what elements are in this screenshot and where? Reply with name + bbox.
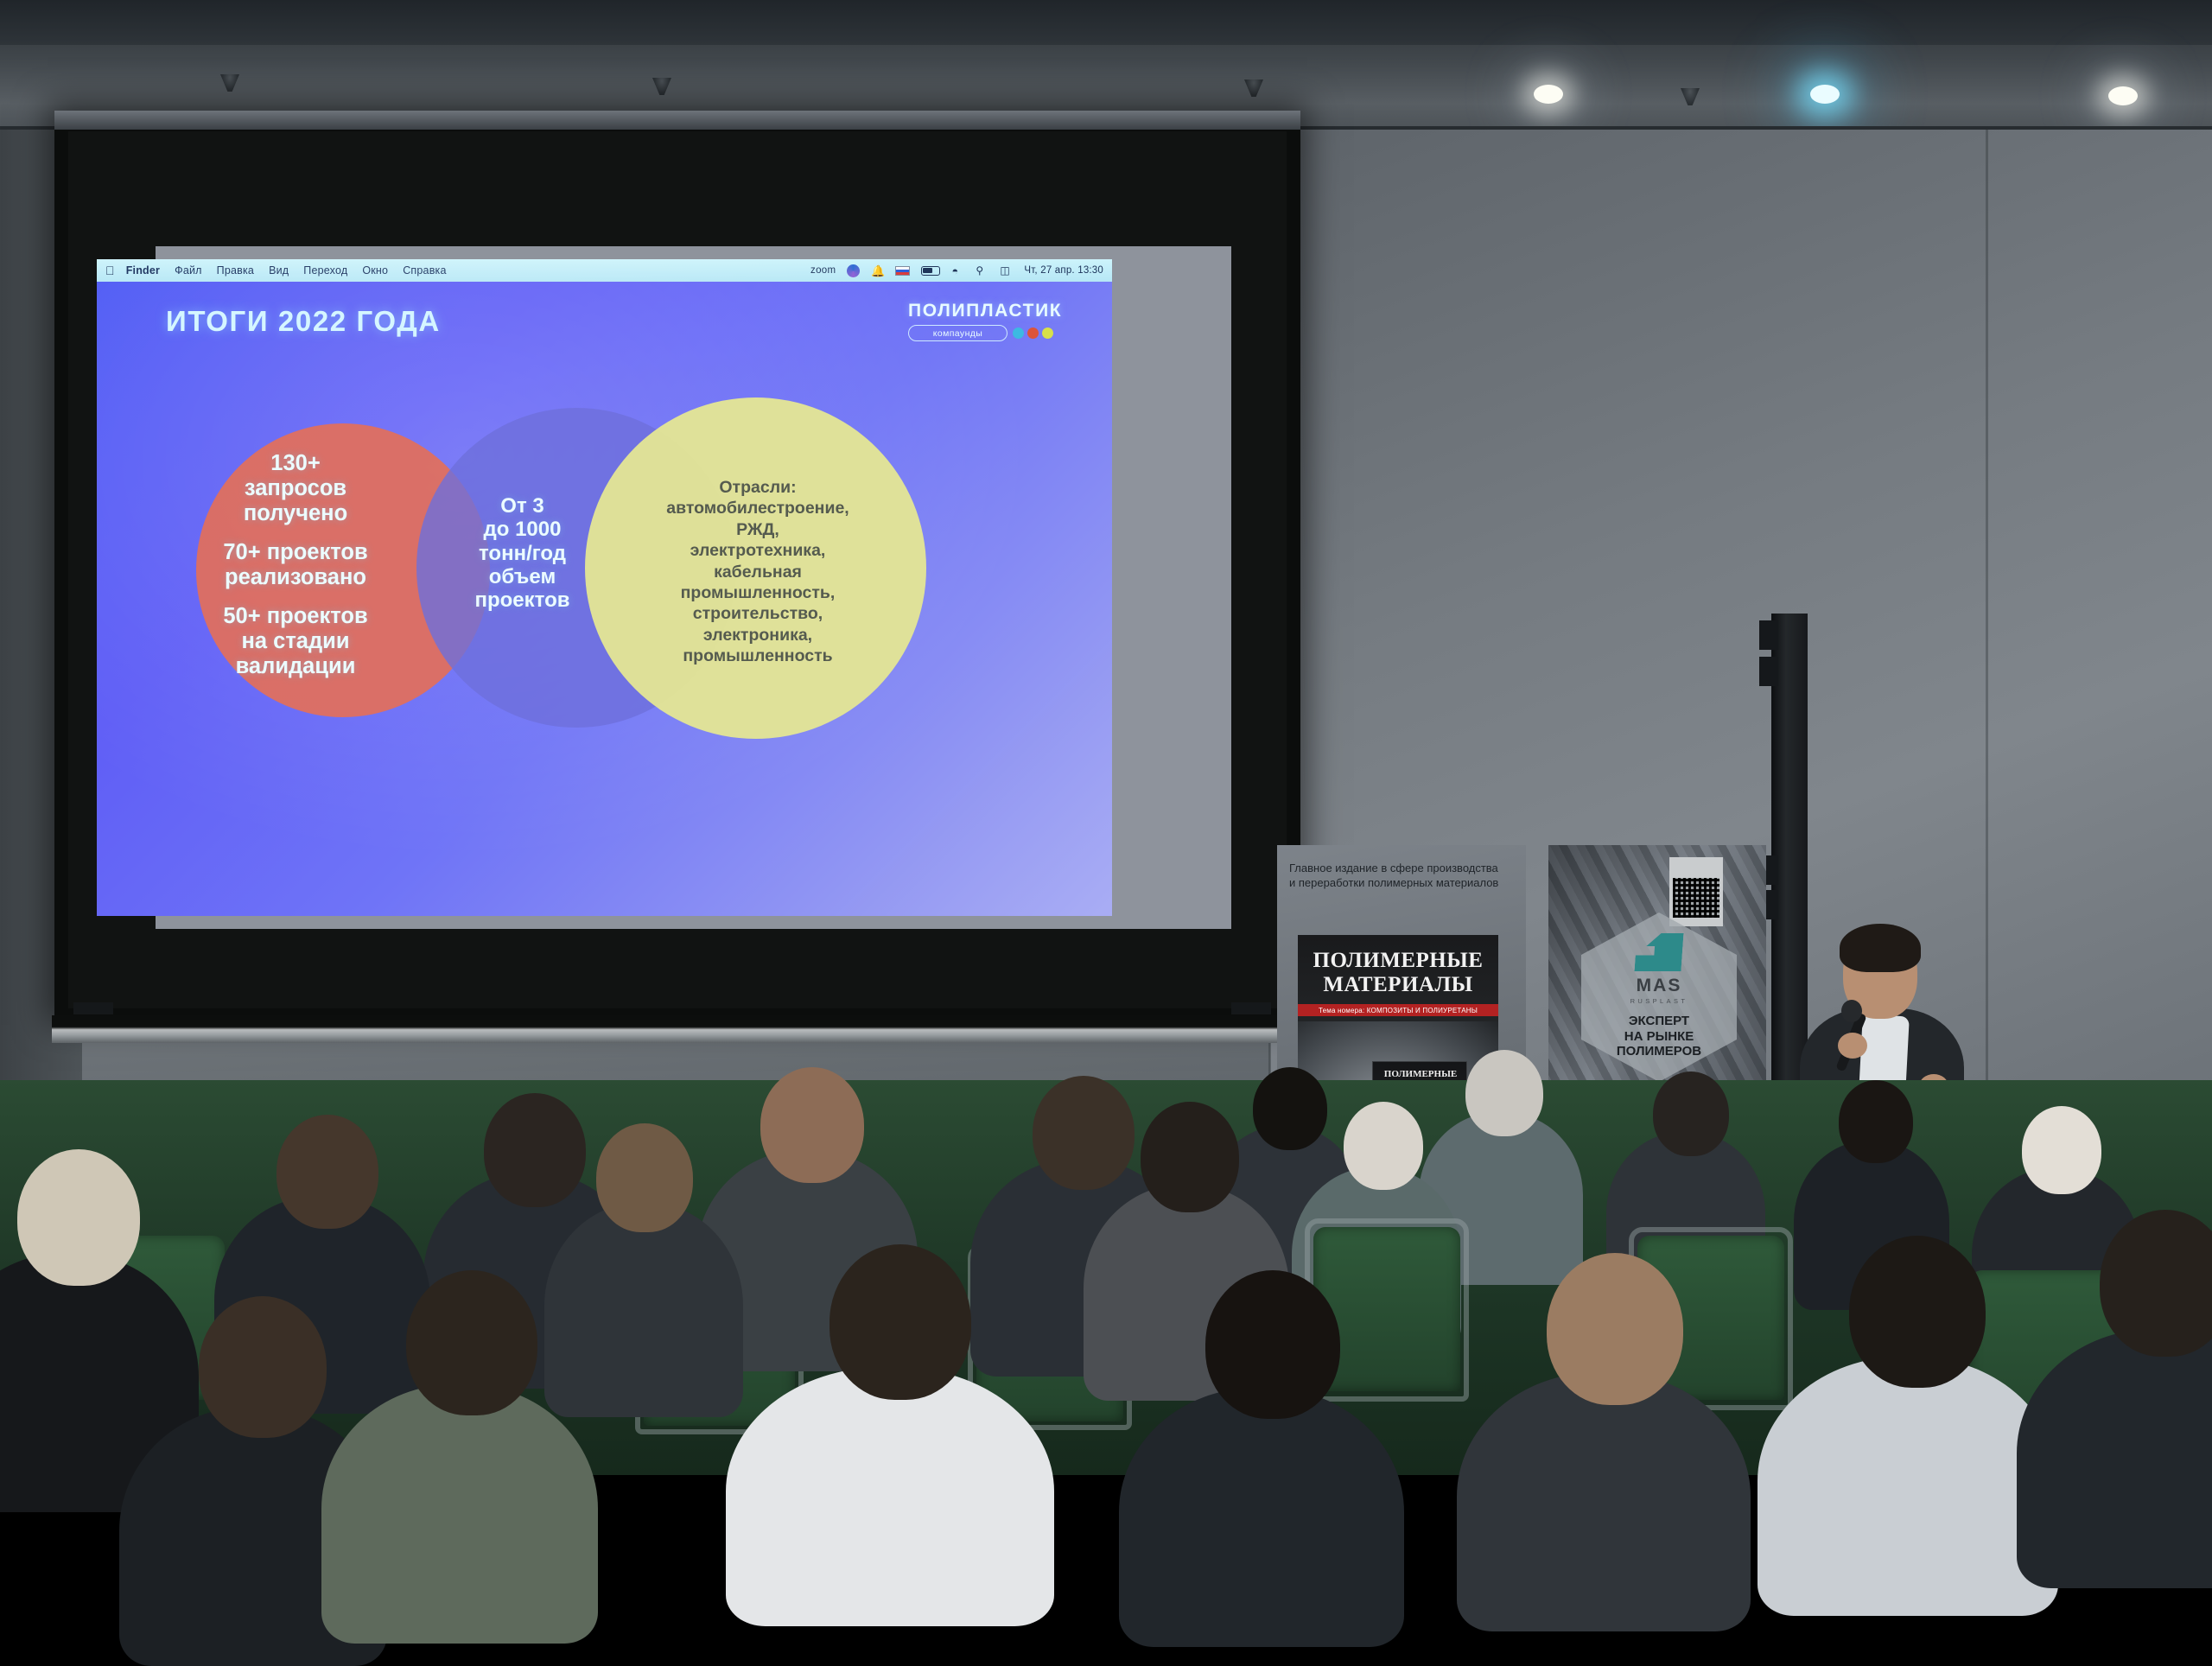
screen-bracket [73,1002,113,1014]
magazine-title-line1: ПОЛИМЕРНЫЕ [1304,949,1492,973]
red-line-8: валидации [236,654,356,678]
mas-brand-sub: RUSPLAST [1630,997,1688,1005]
mas-tagline-line3: ПОЛИМЕРОВ [1617,1044,1701,1059]
red-line-1: 130+ [270,451,320,475]
magazine-title-line2: МАТЕРИАЛЫ [1304,973,1492,997]
venn-yellow-text: Отрасли: автомобилестроение, РЖД, электр… [615,477,900,666]
venn-blue-text: От 3 до 1000 тонн/год объем проектов [429,494,615,613]
ceiling-spotlight [1534,85,1563,104]
red-line-3: получено [244,501,347,525]
screen-bottom-rail [52,1015,1307,1043]
yellow-line-4: электротехника, [690,541,826,560]
qr-code-icon [1673,878,1719,918]
yellow-line-2: автомобилестроение, [666,499,849,518]
yellow-line-7: строительство, [693,604,823,623]
microphone-head [1841,1000,1862,1022]
yellow-line-8: электроника, [703,626,812,645]
sprinkler-head [652,78,671,95]
presenter-hair [1840,924,1921,972]
conference-room:  Finder Файл Правка Вид Переход Окно Сп… [0,0,2212,1475]
yellow-line-6: промышленность, [681,583,836,602]
red-line-4: 70+ проектов [223,540,367,564]
yellow-line-1: Отрасли: [719,478,796,497]
yellow-line-5: кабельная [714,563,802,582]
magazine-issue-band: Тема номера: КОМПОЗИТЫ И ПОЛИУРЕТАНЫ [1298,1004,1498,1016]
banner-headline: Главное издание в сфере производства и п… [1289,861,1507,891]
pa-mount-bracket [1759,657,1778,686]
mas-brand: MAS [1637,976,1682,996]
venn-diagram: 130+ запросов получено 70+ проектов реал… [97,259,1112,916]
mas-tagline: ЭКСПЕРТ НА РЫНКЕ ПОЛИМЕРОВ [1617,1014,1701,1059]
blue-line-4: объем [489,565,556,588]
blue-line-1: От 3 [500,494,543,518]
ceiling-spotlight [1810,85,1840,104]
red-line-5: реализовано [225,565,366,589]
yellow-line-9: промышленность [683,646,832,665]
red-line-2: запросов [245,476,346,500]
sprinkler-head [1244,79,1263,97]
projected-slide:  Finder Файл Правка Вид Переход Окно Сп… [97,259,1112,916]
screen-top-bar [54,111,1300,130]
mas-tagline-line2: НА РЫНКЕ [1624,1029,1694,1044]
wall-seam [1986,130,1988,1132]
sprinkler-head [1681,88,1700,105]
ceiling-spotlight [2108,86,2138,105]
presenter-hand-left [1838,1033,1867,1059]
blue-line-3: тонн/год [479,542,566,565]
screen-bracket [1231,1002,1271,1014]
blue-line-2: до 1000 [484,518,562,541]
mas-tagline-line1: ЭКСПЕРТ [1629,1014,1689,1028]
mas-logo-icon [1634,933,1683,971]
ceiling-dark-strip [0,0,2212,45]
yellow-line-3: РЖД, [736,520,779,539]
qr-code-block: 8 (800) 775-09-14 rusplast.com Россия, М… [1669,857,1723,926]
red-line-6: 50+ проектов [223,604,367,628]
red-line-7: на стадии [241,629,349,653]
pa-mount-bracket [1759,620,1778,650]
sprinkler-head [220,74,239,92]
blue-line-5: проектов [474,588,569,612]
venn-red-text: 130+ запросов получено 70+ проектов реал… [183,451,408,694]
